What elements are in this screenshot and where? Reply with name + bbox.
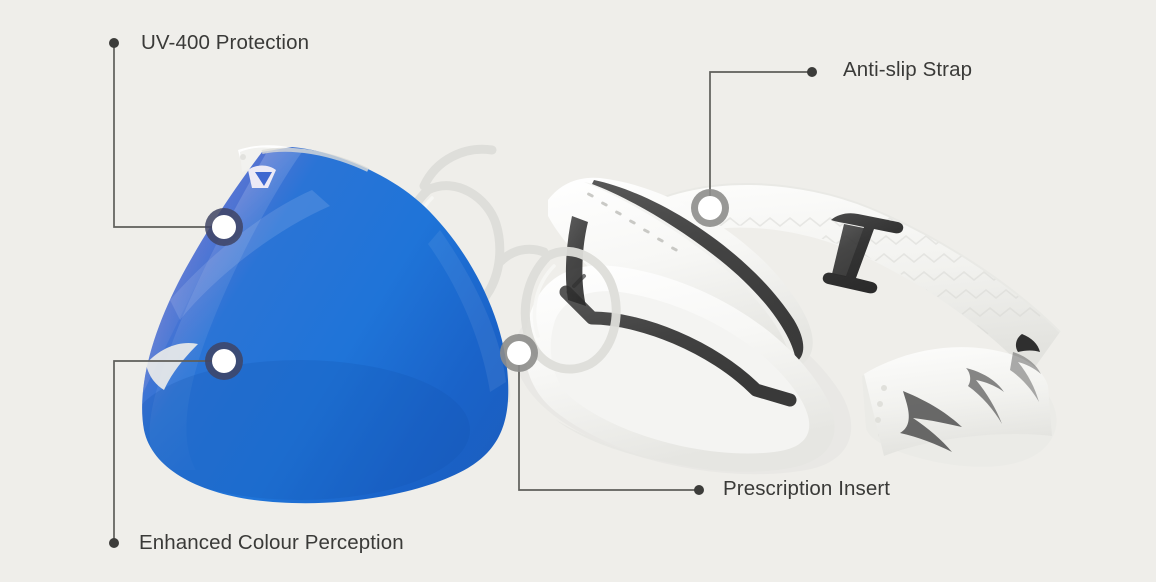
strap-tail xyxy=(862,347,1057,467)
callout-label-uv-400-protection: UV-400 Protection xyxy=(141,33,309,54)
feature-callout-diagram: UV-400 Protection Anti-slip Strap Prescr… xyxy=(0,0,1156,582)
callout-label-anti-slip-strap: Anti-slip Strap xyxy=(843,60,972,81)
callout-label-enhanced-colour-perception: Enhanced Colour Perception xyxy=(139,533,404,554)
product-illustration xyxy=(0,0,1156,582)
lens-visor xyxy=(120,145,510,503)
callout-label-prescription-insert: Prescription Insert xyxy=(723,479,890,500)
